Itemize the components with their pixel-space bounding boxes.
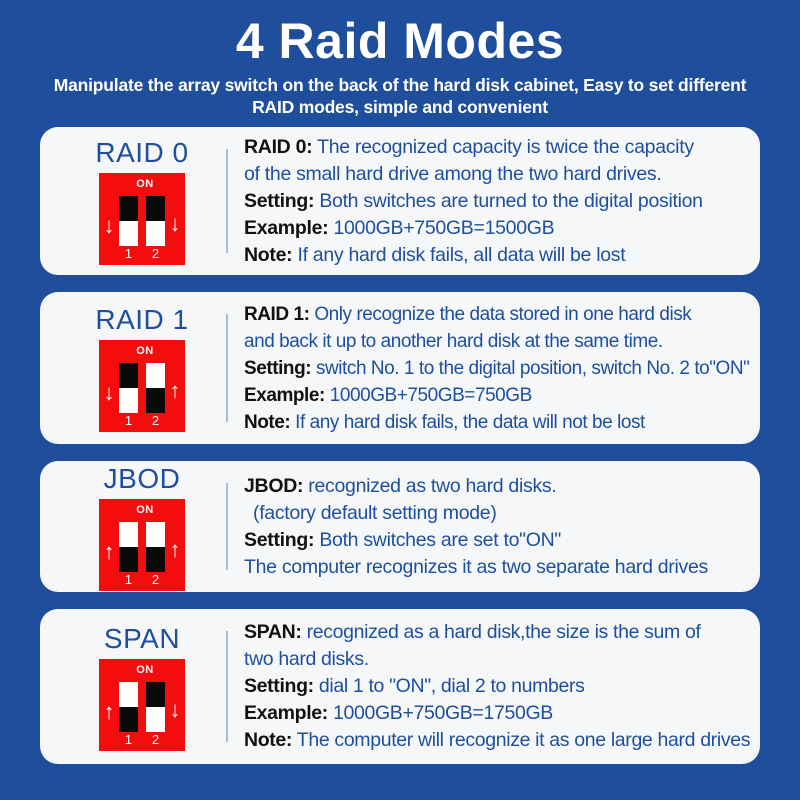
dip-switch-1-bottom [119, 707, 138, 732]
row-text: recognized as a hard disk,the size is th… [307, 621, 701, 643]
row-text: of the small hard drive among the two ha… [244, 163, 661, 185]
row-label: Note: [244, 729, 292, 751]
description-row: RAID 1: Only recognize the data stored i… [244, 301, 749, 328]
row-text: If any hard disk fails, all data will be… [297, 244, 625, 266]
row-text: The computer will recognize it as one la… [297, 729, 750, 751]
row-label: RAID 1: [244, 304, 309, 325]
description-row: Note: If any hard disk fails, all data w… [244, 242, 746, 269]
row-text: Only recognize the data stored in one ha… [314, 304, 691, 325]
row-label: JBOD: [244, 475, 303, 497]
dip-arrow-left: ↓ [102, 213, 116, 239]
dip-switch-numbers: 1 2 [118, 733, 166, 747]
dip-switch-1 [118, 681, 139, 733]
row-text: The computer recognizes it as two separa… [244, 556, 708, 578]
mode-description: JBOD: recognized as two hard disks. (fac… [244, 473, 750, 581]
row-text: switch No. 1 to the digital position, sw… [316, 358, 750, 379]
raid-mode-card: SPAN ON ↑ ↓ [40, 609, 760, 764]
dip-number-1: 1 [118, 414, 139, 428]
description-row: SPAN: recognized as a hard disk,the size… [244, 619, 750, 646]
dip-number-1: 1 [118, 247, 139, 261]
dip-switch-2-top [146, 682, 165, 707]
row-label: Example: [244, 217, 328, 239]
card-divider [226, 314, 228, 422]
dip-switch-2 [145, 681, 166, 733]
description-row: Setting: Both switches are set to"ON" [244, 527, 746, 554]
row-text: 1000GB+750GB=750GB [330, 385, 532, 406]
dip-arrow-left: ↑ [102, 539, 116, 565]
dip-arrow-right: ↓ [168, 699, 182, 725]
mode-illustration: SPAN ON ↑ ↓ [58, 623, 226, 751]
mode-illustration: RAID 0 ON ↓ ↓ [58, 137, 226, 265]
row-text: dial 1 to "ON", dial 2 to numbers [319, 675, 585, 697]
row-label: Setting: [244, 529, 314, 551]
mode-label: JBOD [104, 463, 181, 495]
dip-switch-pair [118, 681, 166, 733]
description-row: RAID 0: The recognized capacity is twice… [244, 134, 746, 161]
dip-switch-1 [118, 362, 139, 414]
mode-description: RAID 0: The recognized capacity is twice… [244, 134, 750, 269]
dip-switch-1 [118, 195, 139, 247]
dip-number-1: 1 [118, 733, 139, 747]
header: 4 Raid Modes Manipulate the array switch… [0, 0, 800, 118]
mode-illustration: RAID 1 ON ↓ ↑ [58, 304, 226, 432]
row-text: two hard disks. [244, 648, 369, 670]
page-title: 4 Raid Modes [0, 12, 800, 70]
row-text: 1000GB+750GB=1750GB [333, 702, 553, 724]
mode-label: SPAN [104, 623, 180, 655]
card-divider [226, 483, 228, 570]
dip-on-label: ON [99, 178, 185, 190]
subtitle-line-2: RAID modes, simple and convenient [35, 96, 765, 118]
row-label: Note: [244, 412, 290, 433]
dip-switch-pair [118, 521, 166, 573]
dip-number-2: 2 [145, 733, 166, 747]
dip-switch-1-top [119, 682, 138, 707]
mode-description: RAID 1: Only recognize the data stored i… [244, 301, 753, 436]
dip-switch-2 [145, 362, 166, 414]
dip-switch-numbers: 1 2 [118, 247, 166, 261]
raid-mode-card: RAID 1 ON ↓ ↑ [40, 292, 760, 444]
dip-number-2: 2 [145, 247, 166, 261]
dip-arrow-right: ↑ [168, 380, 182, 406]
description-row: JBOD: recognized as two hard disks. [244, 473, 746, 500]
dip-switch-icon: ON ↓ ↓ 1 2 [99, 173, 185, 265]
description-row: two hard disks. [244, 646, 750, 673]
dip-switch-numbers: 1 2 [118, 414, 166, 428]
dip-switch-1-bottom [119, 221, 138, 246]
dip-switch-pair [118, 362, 166, 414]
dip-switch-1-bottom [119, 547, 138, 572]
row-label: Example: [244, 702, 328, 724]
card-divider [226, 631, 228, 742]
row-label: Setting: [244, 675, 314, 697]
row-label: Example: [244, 385, 325, 406]
row-text: If any hard disk fails, the data will no… [295, 412, 645, 433]
dip-on-label: ON [99, 504, 185, 516]
infographic-page: 4 Raid Modes Manipulate the array switch… [0, 0, 800, 800]
row-text: Both switches are set to"ON" [319, 529, 561, 551]
row-label: SPAN: [244, 621, 301, 643]
dip-number-2: 2 [145, 573, 166, 587]
dip-switch-2-bottom [146, 388, 165, 413]
description-row: Setting: dial 1 to "ON", dial 2 to numbe… [244, 673, 750, 700]
dip-switch-numbers: 1 2 [118, 573, 166, 587]
row-label: RAID 0: [244, 136, 312, 158]
dip-switch-2-bottom [146, 547, 165, 572]
dip-switch-1-bottom [119, 388, 138, 413]
dip-switch-2-top [146, 196, 165, 221]
row-label: Setting: [244, 190, 314, 212]
row-text: recognized as two hard disks. [308, 475, 556, 497]
page-subtitle: Manipulate the array switch on the back … [35, 74, 765, 118]
row-text: 1000GB+750GB=1500GB [333, 217, 554, 239]
mode-illustration: JBOD ON ↑ ↑ [58, 463, 226, 591]
description-row: Setting: switch No. 1 to the digital pos… [244, 355, 749, 382]
row-label: Note: [244, 244, 292, 266]
row-text: and back it up to another hard disk at t… [244, 331, 663, 352]
dip-switch-icon: ON ↓ ↑ 1 2 [99, 340, 185, 432]
raid-mode-card: RAID 0 ON ↓ ↓ [40, 127, 760, 275]
dip-switch-pair [118, 195, 166, 247]
description-row: Setting: Both switches are turned to the… [244, 188, 746, 215]
dip-switch-2-top [146, 363, 165, 388]
mode-label: RAID 0 [95, 137, 188, 169]
description-row: Note: The computer will recognize it as … [244, 727, 750, 754]
dip-arrow-left: ↓ [102, 380, 116, 406]
dip-switch-2-top [146, 522, 165, 547]
dip-switch-1-top [119, 522, 138, 547]
dip-switch-icon: ON ↑ ↑ 1 2 [99, 499, 185, 591]
raid-mode-card: JBOD ON ↑ ↑ [40, 461, 760, 592]
dip-arrow-right: ↑ [168, 539, 182, 565]
row-text: The recognized capacity is twice the cap… [317, 136, 694, 158]
dip-switch-1-top [119, 363, 138, 388]
description-row: and back it up to another hard disk at t… [244, 328, 749, 355]
description-row: Example: 1000GB+750GB=750GB [244, 382, 749, 409]
dip-switch-icon: ON ↑ ↓ 1 2 [99, 659, 185, 751]
dip-arrow-right: ↓ [168, 213, 182, 239]
mode-label: RAID 1 [95, 304, 188, 336]
dip-arrow-left: ↑ [102, 699, 116, 725]
description-row: of the small hard drive among the two ha… [244, 161, 746, 188]
mode-description: SPAN: recognized as a hard disk,the size… [244, 619, 754, 754]
row-label: Setting: [244, 358, 311, 379]
dip-on-label: ON [99, 345, 185, 357]
description-row: (factory default setting mode) [244, 500, 746, 527]
description-row: Example: 1000GB+750GB=1500GB [244, 215, 746, 242]
card-divider [226, 149, 228, 253]
description-row: The computer recognizes it as two separa… [244, 554, 746, 581]
dip-switch-1-top [119, 196, 138, 221]
dip-number-2: 2 [145, 414, 166, 428]
row-text: (factory default setting mode) [253, 502, 497, 524]
dip-switch-2 [145, 195, 166, 247]
subtitle-line-1: Manipulate the array switch on the back … [54, 75, 747, 95]
dip-switch-2 [145, 521, 166, 573]
dip-on-label: ON [99, 664, 185, 676]
dip-switch-1 [118, 521, 139, 573]
raid-mode-card-list: RAID 0 ON ↓ ↓ [0, 127, 800, 764]
row-text: Both switches are turned to the digital … [319, 190, 702, 212]
description-row: Example: 1000GB+750GB=1750GB [244, 700, 750, 727]
description-row: Note: If any hard disk fails, the data w… [244, 409, 749, 436]
dip-switch-2-bottom [146, 221, 165, 246]
dip-switch-2-bottom [146, 707, 165, 732]
dip-number-1: 1 [118, 573, 139, 587]
